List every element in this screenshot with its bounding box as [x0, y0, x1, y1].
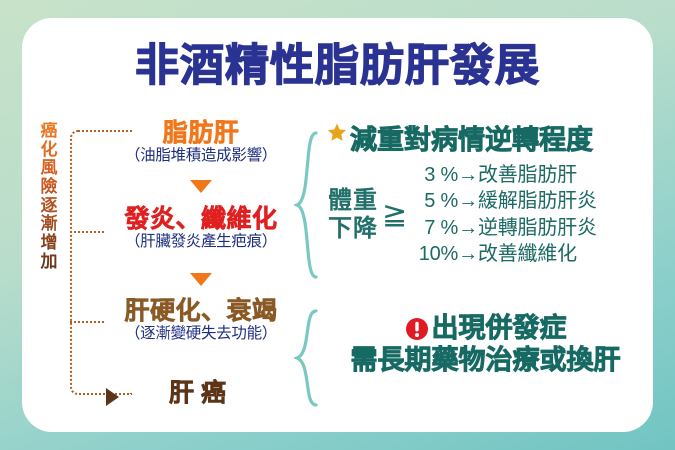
arrow-glyph: → [458, 190, 478, 212]
pct-value: 10% [412, 241, 458, 267]
list-item: 5 %→緩解脂肪肝炎 [412, 188, 597, 214]
stage-inflammation-fibrosis: 發炎、纖維化 （肝臟發炎產生疤痕） [82, 206, 320, 252]
pct-effect: 緩解脂肪肝炎 [478, 190, 597, 212]
complication-line-2: 需長期藥物治療或換肝 [318, 345, 653, 376]
pct-value: 5 % [412, 188, 458, 214]
complication-heading-row: 出現併發症 [318, 313, 653, 344]
arrow-down-icon-1 [190, 180, 212, 193]
stage-cirrhosis-failure: 肝硬化、衰竭 （逐漸變硬失去功能） [82, 298, 320, 344]
complication-section: 出現併發症 需長期藥物治療或換肝 [318, 313, 653, 376]
brace-connector-top [294, 130, 320, 280]
progression-column: 癌化風險逐漸增加 脂肪肝 （油脂堆積造成影響） 發炎、纖維化 （肝臟發炎產生疤痕… [22, 118, 322, 418]
pct-effect: 改善脂肪肝 [478, 164, 577, 186]
star-icon [326, 122, 348, 144]
list-item: 3 %→改善脂肪肝 [412, 162, 597, 188]
pct-value: 3 % [412, 162, 458, 188]
alert-circle-icon [405, 317, 429, 341]
stage-fatty-liver-desc: （油脂堆積造成影響） [82, 147, 320, 166]
weight-drop-line1: 體重 [328, 187, 378, 215]
weight-loss-heading: 減重對病情逆轉程度 [350, 127, 593, 154]
stage-liver-cancer-title: 肝癌 [82, 380, 320, 406]
pct-effect: 逆轉脂肪肝炎 [478, 217, 597, 239]
page-title: 非酒精性脂肪肝發展 [22, 44, 653, 88]
infographic-card: 非酒精性脂肪肝發展 癌化風險逐漸增加 脂肪肝 （油脂堆積造成影響） 發炎、纖維化… [22, 18, 653, 432]
greater-equal-sign: ≧ [382, 200, 407, 230]
stage-fatty-liver-title: 脂肪肝 [82, 120, 320, 146]
arrow-glyph: → [458, 243, 478, 265]
list-item: 10%→改善纖維化 [412, 241, 597, 267]
brace-connector-bottom [294, 308, 320, 408]
list-item: 7 %→逆轉脂肪肝炎 [412, 215, 597, 241]
weight-drop-line2: 下降 [328, 215, 378, 243]
stage-fatty-liver: 脂肪肝 （油脂堆積造成影響） [82, 120, 320, 166]
complication-line-1: 出現併發症 [432, 313, 567, 344]
stage-inflammation-title: 發炎、纖維化 [82, 206, 320, 232]
arrow-glyph: → [458, 164, 478, 186]
pct-value: 7 % [412, 215, 458, 241]
cancer-risk-vertical-label: 癌化風險逐漸增加 [36, 122, 62, 272]
stage-liver-cancer: 肝癌 [82, 380, 320, 406]
arrow-glyph: → [458, 217, 478, 239]
pct-effect: 改善纖維化 [478, 243, 577, 265]
dotted-connector-path [70, 130, 132, 395]
stage-inflammation-desc: （肝臟發炎產生疤痕） [82, 233, 320, 252]
arrow-down-icon-2 [190, 273, 212, 286]
weight-loss-table: 體重 下降 ≧ 3 %→改善脂肪肝 5 %→緩解脂肪肝炎 7 %→逆轉脂肪肝炎 … [328, 162, 597, 268]
weight-loss-heading-row: 減重對病情逆轉程度 [326, 122, 593, 158]
stage-cirrhosis-desc: （逐漸變硬失去功能） [82, 325, 320, 344]
stage-cirrhosis-title: 肝硬化、衰竭 [82, 298, 320, 324]
weight-drop-label: 體重 下降 [328, 187, 378, 242]
percentage-effect-list: 3 %→改善脂肪肝 5 %→緩解脂肪肝炎 7 %→逆轉脂肪肝炎 10%→改善纖維… [412, 162, 597, 268]
